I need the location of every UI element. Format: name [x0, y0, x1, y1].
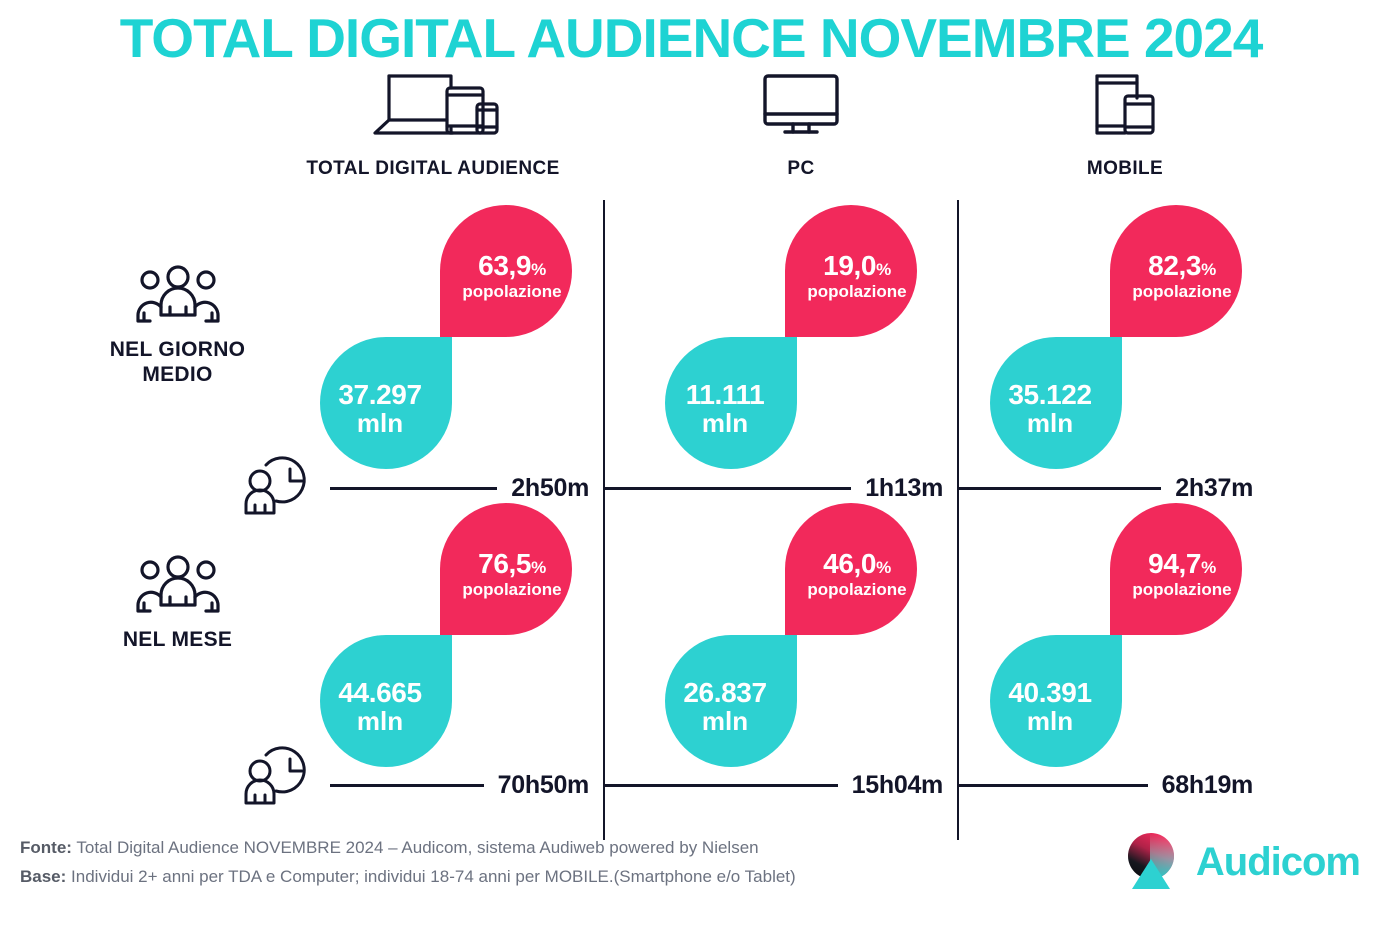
- percent-symbol: %: [876, 558, 891, 577]
- column-divider: [957, 200, 959, 840]
- reach-value: 40.391: [1008, 679, 1091, 708]
- time-row-giorno: 2h50m 1h13m 2h37m: [330, 468, 1267, 508]
- footer-source-label: Fonte:: [20, 838, 72, 857]
- reach-value: 37.297: [338, 381, 421, 410]
- reach-bubble-mobile-mese: 40.391 mln: [990, 635, 1122, 767]
- person-clock-icon-mese: [238, 745, 316, 812]
- infographic-root: TOTAL DIGITAL AUDIENCE NOVEMBRE 2024: [0, 0, 1382, 926]
- footer-base-line: Base: Individui 2+ anni per TDA e Comput…: [20, 863, 1080, 892]
- percent-value: 82,3: [1148, 250, 1201, 281]
- column-header-tda: TOTAL DIGITAL AUDIENCE: [278, 66, 588, 180]
- million-unit: mln: [1008, 410, 1091, 437]
- reach-bubble-mobile-giorno: 35.122 mln: [990, 337, 1122, 469]
- million-unit: mln: [338, 410, 421, 437]
- time-rule: [957, 784, 1148, 787]
- laptop-tablet-phone-icon: [367, 66, 499, 138]
- percent-value: 63,9: [478, 250, 531, 281]
- time-value-tda-giorno: 2h50m: [511, 474, 589, 503]
- percent-bubble-mobile-giorno: 82,3% popolazione: [1110, 205, 1242, 337]
- percent-symbol: %: [1201, 260, 1216, 279]
- million-unit: mln: [683, 708, 766, 735]
- percent-value: 76,5: [478, 548, 531, 579]
- time-segment-mobile-giorno: 2h37m: [957, 474, 1267, 503]
- column-label-mobile: MOBILE: [1087, 158, 1163, 180]
- time-value-pc-giorno: 1h13m: [865, 474, 943, 503]
- audicom-circle-triangle-logo-icon: [1120, 829, 1182, 896]
- population-unit: popolazione: [462, 581, 561, 600]
- reach-value: 44.665: [338, 679, 421, 708]
- column-header-mobile: MOBILE: [970, 66, 1280, 180]
- time-value-pc-mese: 15h04m: [852, 771, 943, 800]
- tablet-phone-icon: [1079, 66, 1171, 138]
- reach-value: 11.111: [686, 381, 765, 410]
- percent-symbol: %: [531, 260, 546, 279]
- footer-notes: Fonte: Total Digital Audience NOVEMBRE 2…: [20, 834, 1080, 892]
- time-segment-tda-giorno: 2h50m: [330, 474, 603, 503]
- bubble-pair-mobile-giorno: 82,3% popolazione 35.122 mln: [975, 205, 1275, 455]
- time-rule: [957, 487, 1161, 490]
- percent-value: 19,0: [823, 250, 876, 281]
- time-value-mobile-giorno: 2h37m: [1175, 474, 1253, 503]
- reach-value: 35.122: [1008, 381, 1091, 410]
- time-rule: [330, 784, 484, 787]
- audicom-wordmark: Audicom: [1196, 840, 1360, 885]
- time-rule: [603, 784, 838, 787]
- population-unit: popolazione: [807, 581, 906, 600]
- bubble-pair-pc-giorno: 19,0% popolazione 11.111 mln: [650, 205, 950, 455]
- row-label-text-giorno: NEL GIORNOMEDIO: [110, 338, 246, 388]
- row-label-text-mese: NEL MESE: [123, 628, 232, 653]
- reach-bubble-pc-giorno: 11.111 mln: [665, 337, 797, 469]
- percent-symbol: %: [1201, 558, 1216, 577]
- reach-bubble-pc-mese: 26.837 mln: [665, 635, 797, 767]
- reach-bubble-tda-mese: 44.665 mln: [320, 635, 452, 767]
- footer-base-label: Base:: [20, 867, 66, 886]
- group-of-people-icon: [130, 265, 226, 328]
- reach-bubble-tda-giorno: 37.297 mln: [320, 337, 452, 469]
- percent-value: 46,0: [823, 548, 876, 579]
- group-of-people-icon: [130, 555, 226, 618]
- percent-bubble-tda-mese: 76,5% popolazione: [440, 503, 572, 635]
- population-unit: popolazione: [807, 283, 906, 302]
- time-value-mobile-mese: 68h19m: [1162, 771, 1253, 800]
- time-segment-tda-mese: 70h50m: [330, 771, 603, 800]
- row-label-mese: NEL MESE: [60, 555, 295, 653]
- page-title: TOTAL DIGITAL AUDIENCE NOVEMBRE 2024: [0, 6, 1382, 70]
- bubble-pair-tda-giorno: 63,9% popolazione 37.297 mln: [305, 205, 605, 455]
- percent-bubble-mobile-mese: 94,7% popolazione: [1110, 503, 1242, 635]
- footer-source-text: Total Digital Audience NOVEMBRE 2024 – A…: [76, 838, 758, 857]
- percent-bubble-pc-giorno: 19,0% popolazione: [785, 205, 917, 337]
- million-unit: mln: [1008, 708, 1091, 735]
- million-unit: mln: [338, 708, 421, 735]
- population-unit: popolazione: [1132, 581, 1231, 600]
- million-unit: mln: [686, 410, 765, 437]
- bubble-pair-tda-mese: 76,5% popolazione 44.665 mln: [305, 503, 605, 753]
- column-label-pc: PC: [787, 158, 814, 180]
- time-rule: [603, 487, 851, 490]
- reach-value: 26.837: [683, 679, 766, 708]
- population-unit: popolazione: [1132, 283, 1231, 302]
- percent-bubble-tda-giorno: 63,9% popolazione: [440, 205, 572, 337]
- time-rule: [330, 487, 497, 490]
- percent-symbol: %: [876, 260, 891, 279]
- row-label-giorno: NEL GIORNOMEDIO: [60, 265, 295, 388]
- footer-base-text: Individui 2+ anni per TDA e Computer; in…: [71, 867, 796, 886]
- percent-value: 94,7: [1148, 548, 1201, 579]
- percent-symbol: %: [531, 558, 546, 577]
- time-row-mese: 70h50m 15h04m 68h19m: [330, 765, 1267, 805]
- time-segment-mobile-mese: 68h19m: [957, 771, 1267, 800]
- time-value-tda-mese: 70h50m: [498, 771, 589, 800]
- population-unit: popolazione: [462, 283, 561, 302]
- audicom-logo: Audicom: [1120, 829, 1360, 896]
- bubble-pair-mobile-mese: 94,7% popolazione 40.391 mln: [975, 503, 1275, 753]
- column-label-tda: TOTAL DIGITAL AUDIENCE: [306, 158, 559, 180]
- bubble-pair-pc-mese: 46,0% popolazione 26.837 mln: [650, 503, 950, 753]
- percent-bubble-pc-mese: 46,0% popolazione: [785, 503, 917, 635]
- time-segment-pc-giorno: 1h13m: [603, 474, 957, 503]
- desktop-monitor-icon: [753, 66, 849, 138]
- time-segment-pc-mese: 15h04m: [603, 771, 957, 800]
- column-header-pc: PC: [646, 66, 956, 180]
- footer-source-line: Fonte: Total Digital Audience NOVEMBRE 2…: [20, 834, 1080, 863]
